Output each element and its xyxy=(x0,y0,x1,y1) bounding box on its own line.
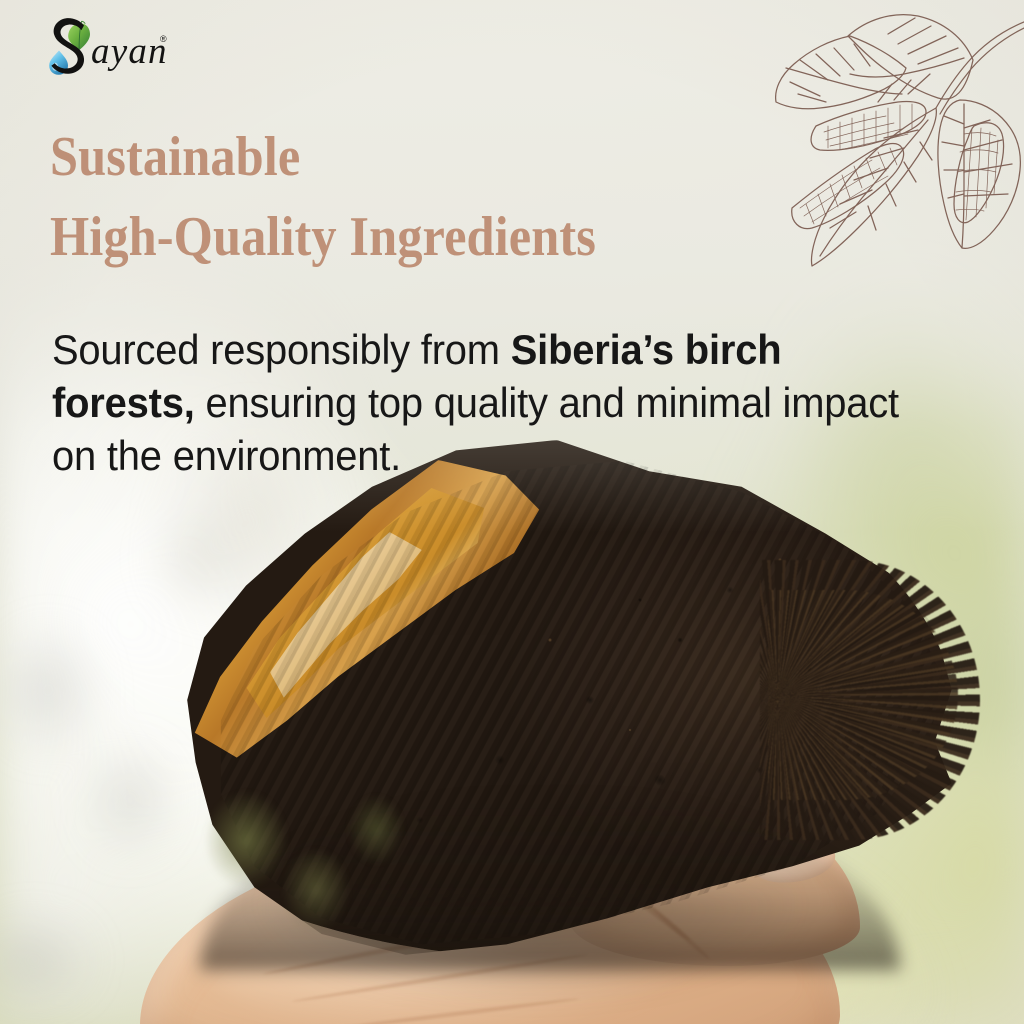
headline: Sustainable High-Quality Ingredients xyxy=(50,118,810,277)
wordmark-text: ayan xyxy=(91,31,168,72)
headline-line-2: High-Quality Ingredients xyxy=(50,198,734,278)
promo-graphic: ayan ® Sustainable High-Quality Ingredie… xyxy=(0,0,1024,1024)
registered-trademark-symbol: ® xyxy=(160,34,167,44)
subcopy: Sourced responsibly from Siberia’s birch… xyxy=(52,324,907,483)
brand-logo[interactable]: ayan ® xyxy=(38,16,178,80)
headline-line-1: Sustainable xyxy=(50,118,734,198)
subcopy-part-1: Sourced responsibly from xyxy=(52,326,511,373)
